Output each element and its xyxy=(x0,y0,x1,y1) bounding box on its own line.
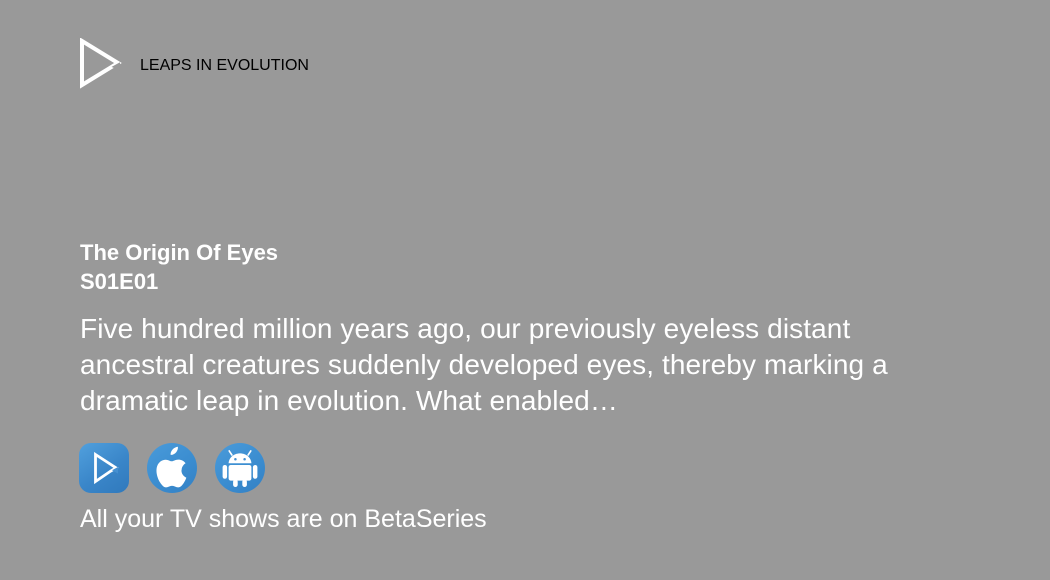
google-play-android-icon[interactable] xyxy=(215,443,265,493)
brand-header: LEAPS IN EVOLUTION xyxy=(78,38,309,94)
footer-tagline: All your TV shows are on BetaSeries xyxy=(80,503,487,535)
apple-app-store-icon[interactable] xyxy=(147,443,197,493)
play-triangle-icon xyxy=(79,443,129,493)
share-card: LEAPS IN EVOLUTION The Origin Of Eyes S0… xyxy=(0,0,1050,580)
episode-title: The Origin Of Eyes xyxy=(80,238,980,267)
betaseries-play-triangle-icon xyxy=(78,38,122,94)
android-icon xyxy=(215,443,265,493)
store-icon-row xyxy=(79,443,265,493)
episode-heading-block: The Origin Of Eyes S01E01 xyxy=(80,238,980,296)
page-title: LEAPS IN EVOLUTION xyxy=(140,57,309,75)
betaseries-app-icon[interactable] xyxy=(79,443,129,493)
episode-description: Five hundred million years ago, our prev… xyxy=(80,311,930,419)
apple-icon xyxy=(147,443,197,493)
episode-code: S01E01 xyxy=(80,267,980,296)
